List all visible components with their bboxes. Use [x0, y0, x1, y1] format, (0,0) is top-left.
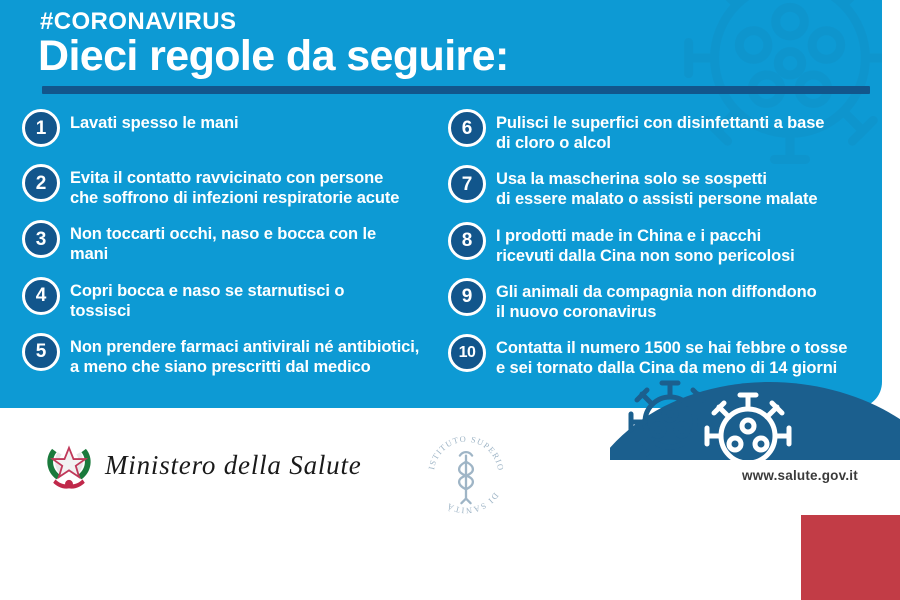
rule-text: Evita il contatto ravvicinato con person… — [70, 163, 399, 208]
rule-item: 6Pulisci le superfici con disinfettanti … — [448, 108, 848, 153]
rule-item: 10Contatta il numero 1500 se hai febbre … — [448, 333, 848, 378]
website-url[interactable]: www.salute.gov.it — [742, 468, 858, 483]
blue-panel: #CORONAVIRUS Dieci regole da seguire: 1L… — [0, 0, 882, 408]
rules-column-right: 6Pulisci le superfici con disinfettanti … — [448, 108, 848, 389]
rules-column-left: 1Lavati spesso le mani2Evita il contatto… — [22, 108, 422, 388]
svg-text:ISTITUTO SUPERIORE: ISTITUTO SUPERIORE — [420, 428, 506, 472]
rule-number-badge: 7 — [448, 165, 486, 203]
title-divider — [42, 86, 870, 94]
rule-number-badge: 4 — [22, 277, 60, 315]
coronavirus-infographic: #CORONAVIRUS Dieci regole da seguire: 1L… — [0, 0, 900, 600]
rule-text: Contatta il numero 1500 se hai febbre o … — [496, 333, 847, 378]
rule-number-badge: 3 — [22, 220, 60, 258]
rule-item: 8I prodotti made in China e i pacchi ric… — [448, 221, 848, 266]
rule-number-badge: 8 — [448, 222, 486, 260]
svg-text:DI SANITÀ: DI SANITÀ — [444, 491, 501, 516]
rule-text: Non toccarti occhi, naso e bocca con le … — [70, 219, 376, 264]
rule-text: Lavati spesso le mani — [70, 108, 238, 133]
rule-text: Pulisci le superfici con disinfettanti a… — [496, 108, 824, 153]
rule-item: 9Gli animali da compagnia non diffondono… — [448, 277, 848, 322]
ministry-name-label: Ministero della Salute — [105, 450, 362, 481]
rule-number-badge: 1 — [22, 109, 60, 147]
rule-number-badge: 10 — [448, 334, 486, 372]
rule-number-badge: 6 — [448, 109, 486, 147]
red-color-block — [801, 515, 900, 600]
rule-text: Usa la mascherina solo se sospetti di es… — [496, 164, 817, 209]
rule-item: 7Usa la mascherina solo se sospetti di e… — [448, 164, 848, 209]
iss-logo-icon: ISTITUTO SUPERIORE DI SANITÀ — [420, 428, 512, 520]
rule-text: Gli animali da compagnia non diffondono … — [496, 277, 817, 322]
rule-text: I prodotti made in China e i pacchi rice… — [496, 221, 795, 266]
rule-text: Copri bocca e naso se starnutisci o toss… — [70, 276, 344, 321]
rule-item: 5Non prendere farmaci antivirali né anti… — [22, 332, 422, 377]
rule-item: 3Non toccarti occhi, naso e bocca con le… — [22, 219, 422, 264]
rule-number-badge: 2 — [22, 164, 60, 202]
rule-item: 4Copri bocca e naso se starnutisci o tos… — [22, 276, 422, 321]
rule-number-badge: 5 — [22, 333, 60, 371]
rule-number-badge: 9 — [448, 278, 486, 316]
italy-emblem-icon — [40, 432, 98, 494]
page-title: Dieci regole da seguire: — [38, 32, 509, 81]
rule-item: 2Evita il contatto ravvicinato con perso… — [22, 163, 422, 208]
rule-text: Non prendere farmaci antivirali né antib… — [70, 332, 419, 377]
rule-item: 1Lavati spesso le mani — [22, 108, 422, 152]
